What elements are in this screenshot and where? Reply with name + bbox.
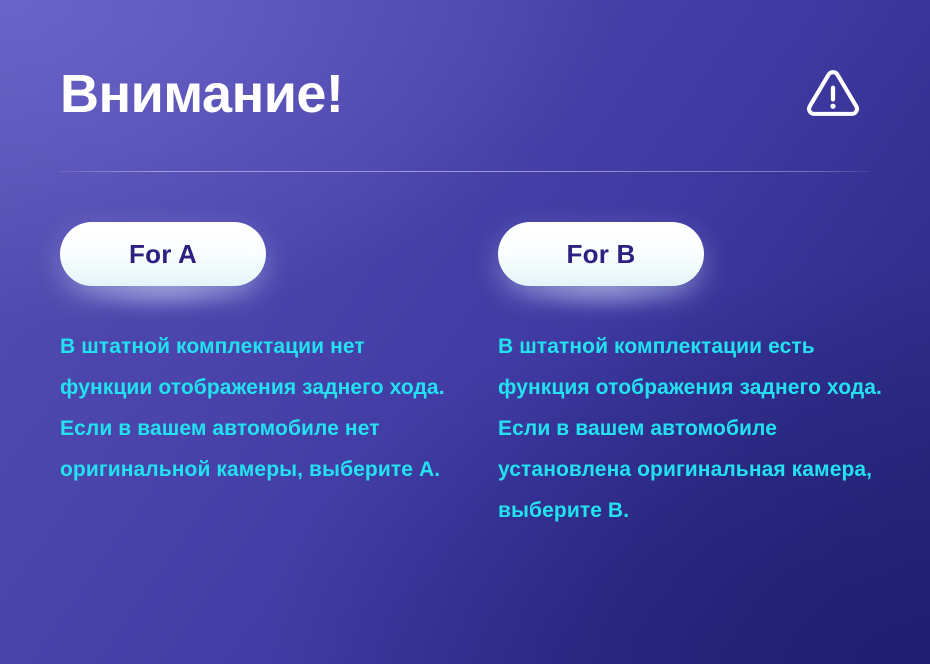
option-b-paragraph-1: В штатной комплектации есть функция отоб… bbox=[498, 326, 898, 408]
warning-slide: Внимание! For A В штатной комплектации н… bbox=[0, 0, 930, 664]
option-b-paragraph-2: Если в вашем автомобиле установлена ориг… bbox=[498, 408, 898, 531]
option-a-paragraph-2: Если в вашем автомобиле нет оригинальной… bbox=[60, 408, 460, 490]
option-a-paragraph-1: В штатной комплектации нет функции отобр… bbox=[60, 326, 460, 408]
page-title: Внимание! bbox=[60, 66, 343, 123]
option-column-b: For B В штатной комплектации есть функци… bbox=[498, 222, 930, 531]
options-columns: For A В штатной комплектации нет функции… bbox=[60, 222, 884, 531]
header-divider bbox=[60, 171, 870, 172]
for-a-button-wrap: For A bbox=[60, 222, 266, 286]
for-a-button[interactable]: For A bbox=[60, 222, 266, 286]
for-b-button-wrap: For B bbox=[498, 222, 704, 286]
option-column-a: For A В штатной комплектации нет функции… bbox=[60, 222, 496, 531]
slide-header: Внимание! bbox=[60, 54, 870, 134]
warning-triangle-icon bbox=[802, 63, 870, 125]
for-b-button[interactable]: For B bbox=[498, 222, 704, 286]
